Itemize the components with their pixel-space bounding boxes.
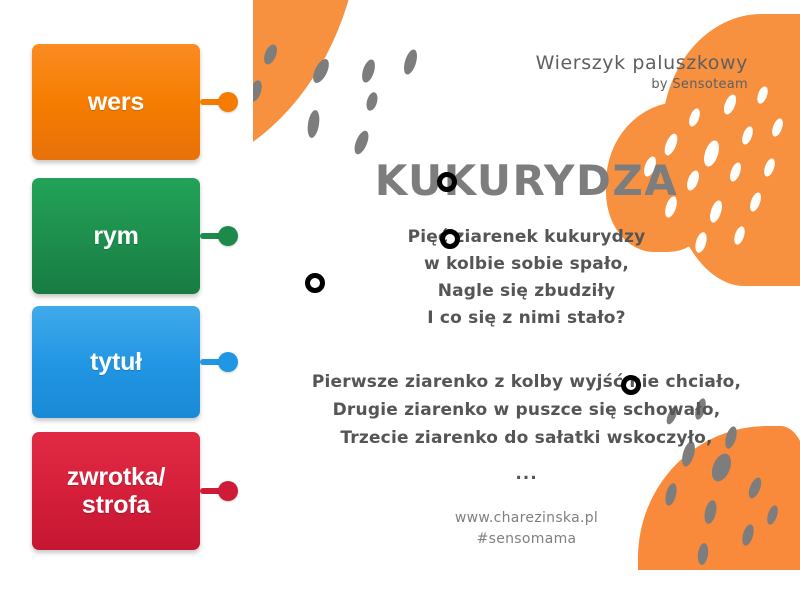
label-tile-tytul-text: tytuł — [84, 348, 148, 376]
corn-decoration-top-left — [253, 0, 391, 179]
corn-seed-icon — [770, 117, 785, 138]
label-tile-rym[interactable]: rym — [32, 178, 200, 294]
corn-seed-icon — [662, 132, 680, 157]
label-tile-tytul[interactable]: tytuł — [32, 306, 200, 418]
connector-dot-zwrotka-strofa[interactable] — [218, 481, 238, 501]
poem-line: I co się z nimi stało? — [253, 305, 800, 332]
corn-seed-icon — [401, 48, 419, 76]
poem-card: Wierszyk paluszkowy by Sensoteam KUKURYD… — [253, 0, 800, 570]
corn-seed-icon — [253, 79, 264, 103]
label-tile-zwrotka-strofa[interactable]: zwrotka/ strofa — [32, 432, 200, 550]
hotspot-on-second-stanza[interactable] — [621, 375, 641, 395]
connector-dot-tytul[interactable] — [218, 352, 238, 372]
corn-seed-icon — [306, 109, 321, 138]
poem-line: Trzecie ziarenko do sałatki wskoczyło, — [253, 424, 800, 452]
connector-dot-rym[interactable] — [218, 226, 238, 246]
poem-stanza-1: Pięć ziarenek kukurydzy w kolbie sobie s… — [253, 224, 800, 332]
poem-footer-website: www.charezinska.pl — [253, 508, 800, 529]
corn-seed-icon — [365, 91, 380, 112]
corn-seed-icon — [310, 57, 332, 86]
corn-seed-icon — [261, 43, 279, 67]
hotspot-on-first-line[interactable] — [440, 229, 460, 249]
poem-line: w kolbie sobie spało, — [253, 251, 800, 278]
poem-header: Wierszyk paluszkowy by Sensoteam — [536, 52, 748, 92]
labels-panel: wers rym tytuł zwrotka/ strofa — [0, 0, 253, 600]
poem-line: Nagle się zbudziły — [253, 278, 800, 305]
label-tile-rym-text: rym — [87, 222, 144, 250]
label-tile-wers[interactable]: wers — [32, 44, 200, 160]
hotspot-on-title[interactable] — [437, 172, 457, 192]
poem-title: KUKURYDZA — [253, 156, 800, 205]
corn-seed-icon — [687, 107, 702, 128]
poem-footer-hashtag: #sensomama — [253, 529, 800, 550]
poem-footer: www.charezinska.pl #sensomama — [253, 508, 800, 550]
activity-stage: wers rym tytuł zwrotka/ strofa — [0, 0, 800, 600]
label-tile-zwrotka-strofa-text: zwrotka/ strofa — [61, 463, 171, 519]
corn-seed-icon — [352, 129, 372, 156]
poem-header-sub: by Sensoteam — [536, 77, 748, 92]
poem-image-panel: Wierszyk paluszkowy by Sensoteam KUKURYD… — [253, 0, 800, 570]
corn-seed-icon — [740, 125, 755, 146]
poem-header-main: Wierszyk paluszkowy — [536, 52, 748, 74]
corn-seed-icon — [755, 85, 770, 105]
poem-line: Drugie ziarenko w puszce się schowało, — [253, 396, 800, 424]
corn-seed-icon — [721, 93, 738, 116]
label-tile-wers-text: wers — [82, 88, 150, 116]
poem-line: Pierwsze ziarenko z kolby wyjść nie chci… — [253, 368, 800, 396]
corn-seed-icon — [360, 58, 378, 84]
poem-ellipsis: ... — [253, 460, 800, 488]
connector-dot-wers[interactable] — [218, 92, 238, 112]
poem-stanza-2: Pierwsze ziarenko z kolby wyjść nie chci… — [253, 368, 800, 488]
poem-line: Pięć ziarenek kukurydzy — [253, 224, 800, 251]
hotspot-unplaced[interactable] — [305, 273, 325, 293]
